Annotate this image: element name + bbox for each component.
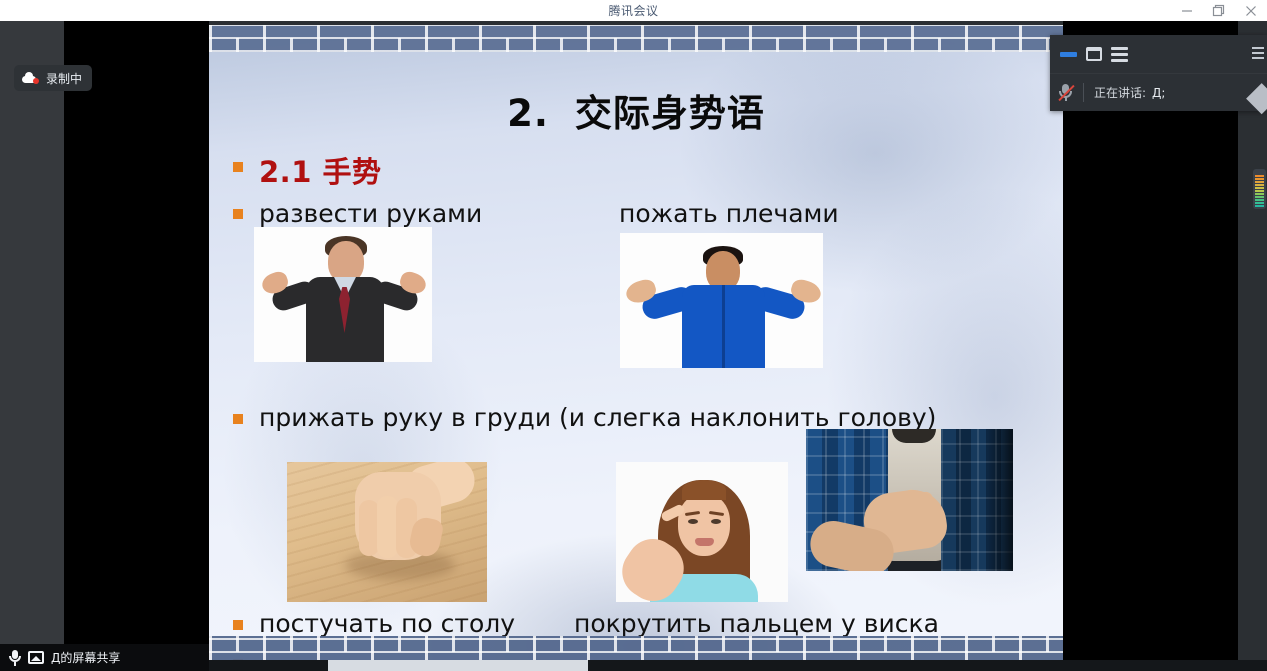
screen-share-status-bar[interactable]: Д的屏幕共享 xyxy=(0,644,209,671)
slide-subtitle: 2.1 手势 xyxy=(259,149,381,191)
shared-slide: 2.交际身势语 2.1 手势 развести руками пожать пл… xyxy=(209,25,1063,666)
floating-panel-toolbar xyxy=(1050,35,1267,73)
slide-line-3: прижать руку в груди (и слегка наклонить… xyxy=(259,403,936,432)
window-titlebar: 腾讯会议 xyxy=(0,0,1267,21)
recording-badge[interactable]: 录制中 xyxy=(14,65,92,91)
slide-line-5: покрутить пальцем у виска xyxy=(574,609,939,638)
slide-title: 2.交际身势语 xyxy=(209,83,1063,137)
bottom-letterbox xyxy=(209,660,1267,671)
speaking-label: 正在讲话: xyxy=(1094,86,1146,100)
minimize-button[interactable] xyxy=(1171,0,1203,21)
cloud-record-icon xyxy=(22,72,39,84)
window-controls xyxy=(1171,0,1267,21)
more-options-icon[interactable] xyxy=(1252,47,1264,59)
close-button[interactable] xyxy=(1235,0,1267,21)
audio-level-meter xyxy=(1253,169,1266,209)
screen-share-icon[interactable] xyxy=(28,651,44,664)
speaking-status: 正在讲话:Д; xyxy=(1094,84,1165,101)
restore-panel-icon[interactable] xyxy=(1086,47,1102,61)
microphone-muted-icon[interactable] xyxy=(1058,83,1073,102)
hamburger-menu-icon[interactable] xyxy=(1111,47,1128,62)
slide-bottom-border-row2 xyxy=(236,636,1063,652)
minimize-panel-icon[interactable] xyxy=(1060,52,1077,57)
collapse-handle[interactable] xyxy=(1246,83,1267,114)
photo-woman-twirling-finger-at-temple xyxy=(616,462,788,602)
slide-line-2: пожать плечами xyxy=(619,199,839,228)
divider xyxy=(1083,83,1084,102)
floating-panel-speaking-row: 正在讲话:Д; xyxy=(1050,73,1267,111)
app-root: 腾讯会议 xyxy=(0,0,1267,671)
slide-title-text: 交际身势语 xyxy=(575,92,765,135)
left-panel xyxy=(0,21,64,671)
bullet-square-line-1 xyxy=(233,209,243,219)
slide-top-border-row2 xyxy=(236,38,1063,52)
recording-label: 录制中 xyxy=(46,70,82,87)
bullet-square-line-4 xyxy=(233,620,243,630)
slide-line-4: постучать по столу xyxy=(259,609,515,638)
bottom-taskbar-segment xyxy=(328,660,588,671)
bullet-square-subtitle xyxy=(233,162,243,172)
photo-man-in-dark-suit-shrugging xyxy=(254,227,432,362)
shared-screen-letterbox-right xyxy=(1063,21,1238,671)
screen-share-label: Д的屏幕共享 xyxy=(51,649,120,666)
bullet-square-line-3 xyxy=(233,414,243,424)
window-title: 腾讯会议 xyxy=(608,2,658,19)
photo-fist-knocking-on-wooden-table xyxy=(287,462,487,602)
photo-man-in-blue-shirt-shrugging xyxy=(620,233,823,368)
speaker-name: Д; xyxy=(1152,86,1165,100)
slide-title-number: 2. xyxy=(507,92,549,135)
microphone-icon[interactable] xyxy=(9,650,21,666)
restore-button[interactable] xyxy=(1203,0,1235,21)
meeting-stage: 录制中 2.交际身势语 2.1 手势 развести руками пожат… xyxy=(0,21,1267,671)
shared-screen-letterbox-left xyxy=(64,21,209,671)
slide-line-1: развести руками xyxy=(259,199,482,228)
floating-control-panel: 正在讲话:Д; xyxy=(1050,35,1267,111)
photo-hand-pressed-to-chest-plaid-shirt xyxy=(806,429,1013,571)
